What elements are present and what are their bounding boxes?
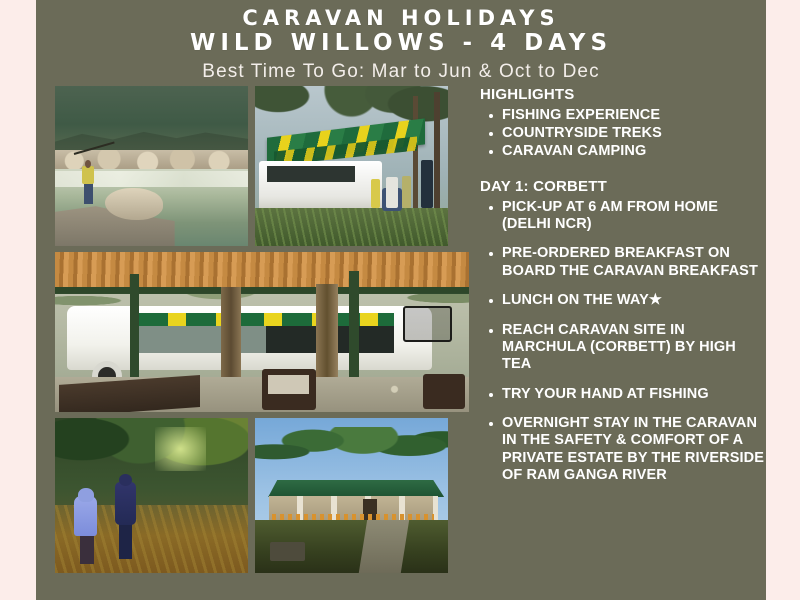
poster-subtitle: Best Time To Go: Mar to Jun & Oct to Dec [36,61,766,83]
day1-list: PICK-UP AT 6 AM FROM HOME (DELHI NCR) PR… [480,199,766,485]
list-item: REACH CARAVAN SITE IN MARCHULA (CORBETT)… [480,322,766,374]
list-item: PRE-ORDERED BREAKFAST ON BOARD THE CARAV… [480,245,766,280]
highlights-list: FISHING EXPERIENCE COUNTRYSIDE TREKS CAR… [480,107,766,161]
forest-trek-photo [55,418,248,573]
list-item: OVERNIGHT STAY IN THE CARAVAN IN THE SAF… [480,415,766,485]
caravan-shelter-photo [55,252,469,412]
estate-building-photo [255,418,448,573]
list-item: PICK-UP AT 6 AM FROM HOME (DELHI NCR) [480,199,766,234]
list-item: LUNCH ON THE WAY★ [480,292,766,309]
poster-header: CARAVAN HOLIDAYS WILD WILLOWS - 4 DAYS B… [36,2,766,83]
gallery-row-top [55,86,469,246]
gallery-row-middle [55,252,469,412]
gallery-row-bottom [55,418,469,573]
itinerary-content: HIGHLIGHTS FISHING EXPERIENCE COUNTRYSID… [480,86,766,497]
photo-gallery [55,86,469,579]
caravan-awning-photo [255,86,448,246]
list-item: FISHING EXPERIENCE [480,107,766,124]
highlights-heading: HIGHLIGHTS [480,86,766,104]
day1-heading: DAY 1: CORBETT [480,178,766,196]
list-item: CARAVAN CAMPING [480,143,766,160]
poster-title-line-1: CARAVAN HOLIDAYS [36,7,766,29]
angler-river-photo [55,86,248,246]
poster-panel: CARAVAN HOLIDAYS WILD WILLOWS - 4 DAYS B… [36,0,766,600]
list-item: TRY YOUR HAND AT FISHING [480,386,766,403]
list-item: COUNTRYSIDE TREKS [480,125,766,142]
itinerary-poster: CARAVAN HOLIDAYS WILD WILLOWS - 4 DAYS B… [0,0,800,600]
poster-title-line-2: WILD WILLOWS - 4 DAYS [36,31,766,55]
